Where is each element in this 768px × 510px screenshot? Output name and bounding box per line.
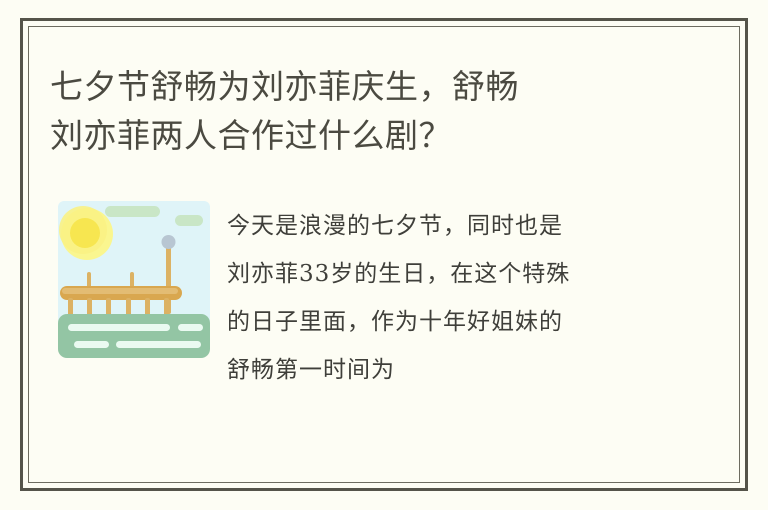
article-card: 七夕节舒畅为刘亦菲庆生，舒畅 刘亦菲两人合作过什么剧？ (0, 0, 768, 510)
article-thumbnail[interactable] (50, 196, 215, 366)
page-title: 七夕节舒畅为刘亦菲庆生，舒畅 刘亦菲两人合作过什么剧？ (50, 62, 690, 160)
article-excerpt: 今天是浪漫的七夕节，同时也是 刘亦菲33岁的生日，在这个特殊 的日子里面，作为十… (227, 196, 690, 394)
pier-illustration-icon (50, 196, 215, 366)
article-content: 今天是浪漫的七夕节，同时也是 刘亦菲33岁的生日，在这个特殊 的日子里面，作为十… (50, 196, 690, 394)
